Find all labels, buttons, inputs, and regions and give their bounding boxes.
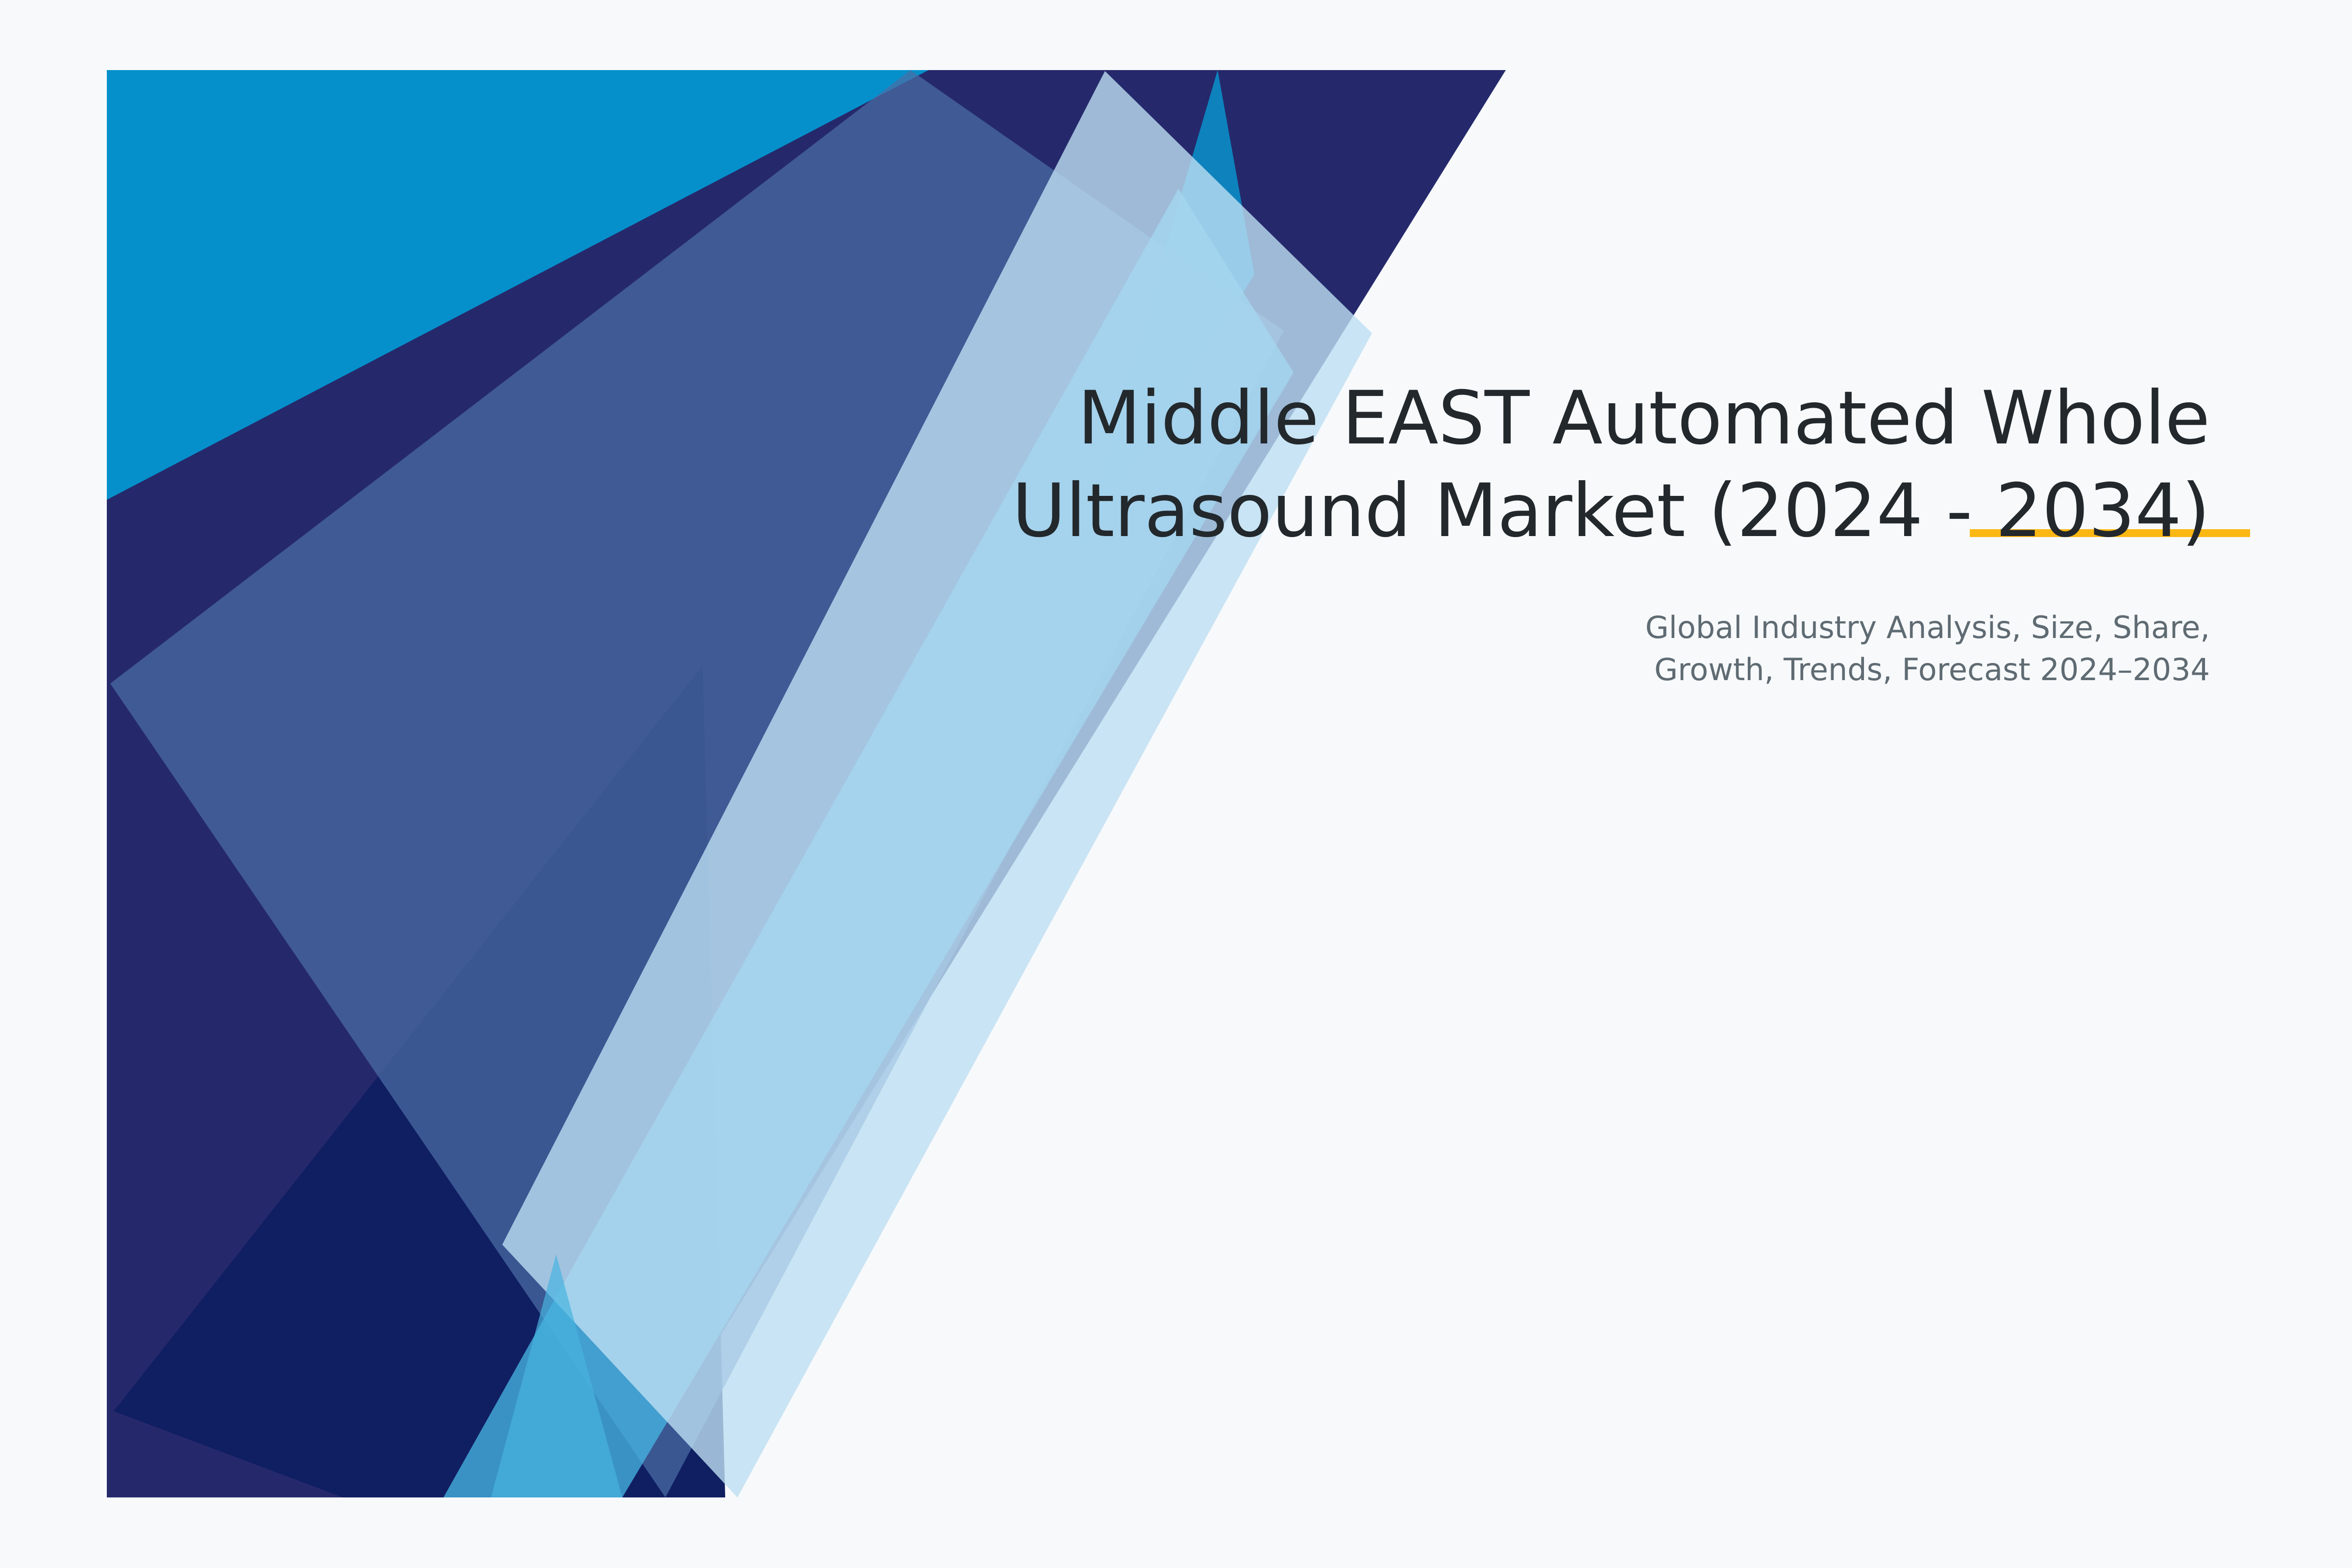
cover-text-block: Middle EAST Automated Whole Ultrasound M…	[1004, 372, 2210, 690]
abstract-geometric-artwork	[0, 0, 2352, 1568]
page-subtitle: Global Industry Analysis, Size, Share, G…	[1004, 558, 2210, 690]
page-title: Middle EAST Automated Whole Ultrasound M…	[1004, 372, 2210, 558]
report-cover-page: Middle EAST Automated Whole Ultrasound M…	[0, 0, 2352, 1568]
